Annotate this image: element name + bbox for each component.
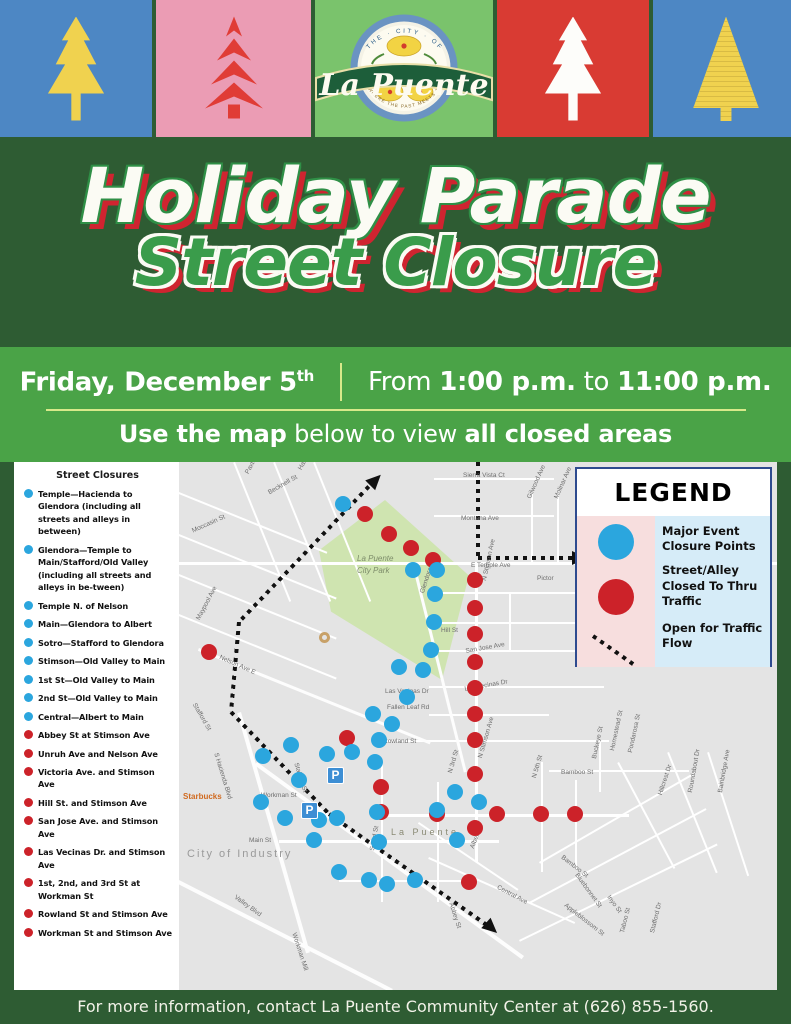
map-red-closure-dot[interactable] [201,644,217,660]
map-red-closure-dot[interactable] [357,506,373,522]
park-label-line2: City Park [357,566,389,575]
legend-label-open-traffic: Open for Traffic Flow [662,621,766,651]
map-blue-closure-dot[interactable] [371,834,387,850]
map-blue-closure-dot[interactable] [426,614,442,630]
closure-item-label: Sotro—Stafford to Glendora [38,637,164,649]
time-end: 11:00 p.m. [617,367,771,397]
road-segment [429,686,604,688]
map-blue-closure-dot[interactable] [391,659,407,675]
map-street-label: Bamboo St [561,769,593,776]
closure-item-label: Rowland St and Stimson Ave [38,908,168,920]
closure-item-label: Temple N. of Nelson [38,600,128,612]
legend-swatch-column [577,516,655,667]
closure-list-item: Glendora—Temple to Main/Stafford/Old Val… [22,544,173,594]
city-seal-logo: THE · CITY · OF WHERE THE PAST MEETS THE… [315,14,493,124]
map-red-closure-dot[interactable] [467,626,483,642]
closure-list-item: 2nd St—Old Valley to Main [22,692,173,704]
red-circle-icon [24,767,33,776]
closure-item-label: Central—Albert to Main [38,711,144,723]
road-segment [429,592,599,594]
closure-list-item: Temple—Hacienda to Glendora (including a… [22,488,173,538]
map-street-label: Moccasin St [191,514,226,535]
footer-contact: For more information, contact La Puente … [0,990,791,1024]
map-street-label: Fallen Leaf Rd [387,704,429,711]
instruction-bold-1: Use the map [119,420,287,448]
map-red-closure-dot[interactable] [489,806,505,822]
map-red-closure-dot[interactable] [467,820,483,836]
svg-text:La Puente: La Puente [318,68,488,103]
blue-circle-icon [24,675,33,684]
map-blue-closure-dot[interactable] [331,864,347,880]
map-street-label: Becknell St [267,474,299,496]
blue-circle-icon [24,489,33,498]
parking-marker-icon[interactable]: P [301,802,318,819]
poi-starbucks: Starbucks [183,792,222,801]
closure-list-item: 1st, 2nd, and 3rd St at Workman St [22,877,173,902]
solid-white-tree-icon [534,17,612,121]
top-banner: THE · CITY · OF WHERE THE PAST MEETS THE… [0,0,791,137]
map-blue-closure-dot[interactable] [306,832,322,848]
event-date: Friday, December 5th [20,367,340,398]
road-segment [539,772,696,864]
red-circle-icon [24,798,33,807]
city-label-city-of-industry: City of Industry [187,848,307,862]
map-street-label: Molinar Ave [553,466,573,500]
roundabout-icon [319,632,330,643]
instruction-mid: below to view [287,420,465,448]
map-red-closure-dot[interactable] [533,806,549,822]
map-blue-closure-dot[interactable] [255,748,271,764]
closure-list-item: Central—Albert to Main [22,711,173,723]
map-street-label: Homestead St [609,710,624,752]
date-bar: Friday, December 5th From 1:00 p.m. to 1… [0,347,791,462]
event-time: From 1:00 p.m. to 11:00 p.m. [342,367,771,397]
map-red-closure-dot[interactable] [461,874,477,890]
map-blue-closure-dot[interactable] [447,784,463,800]
closure-item-label: Stimson—Old Valley to Main [38,655,165,667]
map-street-label: Maypool Ave [195,585,219,621]
closure-list-item: Main—Glendora to Albert [22,618,173,630]
map-blue-closure-dot[interactable] [369,804,385,820]
map-blue-closure-dot[interactable] [423,642,439,658]
road-segment [531,492,533,564]
closure-item-label: Temple—Hacienda to Glendora (including a… [38,488,173,538]
map-blue-closure-dot[interactable] [329,810,345,826]
map-blue-closure-dot[interactable] [367,754,383,770]
map-red-closure-dot[interactable] [567,806,583,822]
map-red-closure-dot[interactable] [467,766,483,782]
map-blue-closure-dot[interactable] [471,794,487,810]
banner-panel-5 [653,0,791,137]
map-street-label: Roundabout Dr [687,749,702,794]
closure-list-item: Unruh Ave and Nelson Ave [22,748,173,760]
road-segment [575,780,577,870]
closure-item-label: 1st St—Old Valley to Main [38,674,155,686]
map-street-label: Montana Ave [461,515,499,522]
map-blue-closure-dot[interactable] [253,794,269,810]
road-segment [509,592,511,652]
closure-item-label: Glendora—Temple to Main/Stafford/Old Val… [38,544,173,594]
road-segment [339,880,469,882]
title-block: Holiday Parade Street Closure [0,137,791,347]
map-street-label: Rowland St [383,738,416,745]
map-red-closure-dot[interactable] [467,654,483,670]
map-street-label: N 3rd St [447,749,460,774]
banner-panel-1 [0,0,152,137]
map-street-label: Pictor [537,575,554,582]
closure-list-item: Hill St. and Stimson Ave [22,797,173,809]
red-circle-icon [24,730,33,739]
map-street-label: Stafford Dr [649,902,663,934]
legend-label-major-event: Major Event Closure Points [662,524,766,554]
map-street-label: Paxton Ave [244,462,266,475]
map-blue-closure-dot[interactable] [407,872,423,888]
legend-blue-circle-icon [598,524,634,560]
map-frame[interactable]: Street Closures Temple—Hacienda to Glend… [14,462,777,990]
date-bar-rule [46,409,746,411]
legend-body: Major Event Closure Points Street/Alley … [577,516,770,667]
map-red-closure-dot[interactable] [467,600,483,616]
road-segment [529,808,707,904]
banner-panel-3: THE · CITY · OF WHERE THE PAST MEETS THE… [315,0,493,137]
chevron-red-tree-icon [195,14,273,123]
closure-item-label: Victoria Ave. and Stimson Ave [38,766,173,791]
map-blue-closure-dot[interactable] [365,706,381,722]
closure-list-item: Sotro—Stafford to Glendora [22,637,173,649]
closure-item-label: Abbey St at Stimson Ave [38,729,150,741]
legend-text-column: Major Event Closure Points Street/Alley … [655,516,770,667]
map-red-closure-dot[interactable] [467,680,483,696]
closure-list-item: Rowland St and Stimson Ave [22,908,173,920]
map-street-label: Hill St [441,627,458,634]
map-blue-closure-dot[interactable] [361,872,377,888]
red-circle-icon [24,928,33,937]
map-blue-closure-dot[interactable] [379,876,395,892]
red-circle-icon [24,878,33,887]
map-street-label: Buckeye St [591,726,605,760]
banner-panel-2 [156,0,311,137]
legend-red-circle-icon [598,579,634,615]
instruction-bold-2: all closed areas [465,420,673,448]
closure-list-item: Workman St and Stimson Ave [22,927,173,939]
road-segment [437,782,439,902]
closure-list-item: Stimson—Old Valley to Main [22,655,173,667]
map-blue-closure-dot[interactable] [449,832,465,848]
closure-item-label: Unruh Ave and Nelson Ave [38,748,158,760]
map-street-label: Bainbridge Ave [717,749,731,793]
red-circle-icon [24,749,33,758]
poster-root: THE · CITY · OF WHERE THE PAST MEETS THE… [0,0,791,1024]
map-canvas[interactable]: La Puente City Park La Puente City of In… [179,462,777,990]
parking-marker-icon[interactable]: P [327,767,344,784]
park-label-line1: La Puente [357,554,393,563]
red-circle-icon [24,847,33,856]
map-blue-closure-dot[interactable] [319,746,335,762]
traffic-flow-dotted-segment [230,711,331,816]
legend-dotted-line-icon [592,634,635,666]
map-red-closure-dot[interactable] [467,572,483,588]
map-blue-closure-dot[interactable] [291,772,307,788]
map-red-closure-dot[interactable] [373,779,389,795]
map-blue-closure-dot[interactable] [277,810,293,826]
closure-list-item: Abbey St at Stimson Ave [22,729,173,741]
street-closures-list: Temple—Hacienda to Glendora (including a… [22,488,173,939]
lined-yellow-tree-icon [687,17,765,121]
map-blue-closure-dot[interactable] [427,586,443,602]
legend-box: LEGEND Major Event Closure Points Street… [575,467,772,667]
map-street-label: Hillcrest Dr [657,764,673,796]
blue-circle-icon [24,656,33,665]
map-street-label: Pondarosa St [627,713,642,753]
time-prefix: From [368,367,439,397]
map-blue-closure-dot[interactable] [429,562,445,578]
legend-title: LEGEND [577,469,770,516]
blue-circle-icon [24,619,33,628]
street-closures-heading: Street Closures [22,470,173,481]
map-blue-closure-dot[interactable] [415,662,431,678]
street-closures-panel: Street Closures Temple—Hacienda to Glend… [14,462,179,990]
road-segment [557,492,559,564]
closure-item-label: 1st, 2nd, and 3rd St at Workman St [38,877,173,902]
map-street-label: Stafford St [191,702,212,732]
blue-circle-icon [24,545,33,554]
closure-list-item: Las Vecinas Dr. and Stimson Ave [22,846,173,871]
traffic-flow-dotted-segment [478,556,579,560]
closure-list-item: Temple N. of Nelson [22,600,173,612]
blue-circle-icon [24,712,33,721]
map-blue-closure-dot[interactable] [335,496,351,512]
closure-item-label: San Jose Ave. and Stimson Ave [38,815,173,840]
closure-list-item: Victoria Ave. and Stimson Ave [22,766,173,791]
red-circle-icon [24,816,33,825]
closure-list-item: San Jose Ave. and Stimson Ave [22,815,173,840]
closure-item-label: Main—Glendora to Albert [38,618,152,630]
solid-yellow-tree-icon [37,17,115,121]
map-blue-closure-dot[interactable] [429,802,445,818]
map-street-label: Main St [249,837,271,844]
closure-item-label: Hill St. and Stimson Ave [38,797,147,809]
red-circle-icon [24,909,33,918]
closure-item-label: 2nd St—Old Valley to Main [38,692,158,704]
closure-list-item: 1st St—Old Valley to Main [22,674,173,686]
map-blue-closure-dot[interactable] [283,737,299,753]
map-red-closure-dot[interactable] [467,732,483,748]
map-street-label: Gilwood Ave [526,464,547,500]
map-street-label: Bluebonnet St [573,872,603,909]
map-street-label: San Jose Ave [465,641,505,655]
map-street-label: Inyo St [605,894,623,914]
map-red-closure-dot[interactable] [403,540,419,556]
map-street-label: Sierra Vista Ct [463,472,505,479]
map-red-closure-dot[interactable] [467,706,483,722]
time-mid: to [576,367,617,397]
closure-item-label: Workman St and Stimson Ave [38,927,172,939]
legend-label-street-alley: Street/Alley Closed To Thru Traffic [662,563,766,609]
blue-circle-icon [24,638,33,647]
map-blue-closure-dot[interactable] [371,732,387,748]
blue-circle-icon [24,693,33,702]
road-segment-valley-blvd [179,880,393,990]
blue-circle-icon [24,601,33,610]
road-segment [707,752,749,876]
map-blue-closure-dot[interactable] [344,744,360,760]
map-blue-closure-dot[interactable] [399,689,415,705]
map-blue-closure-dot[interactable] [384,716,400,732]
date-ordinal-suffix: th [297,367,314,385]
map-red-closure-dot[interactable] [381,526,397,542]
event-date-text: Friday, December 5 [20,367,297,397]
date-row: Friday, December 5th From 1:00 p.m. to 1… [0,347,791,401]
instruction-text: Use the map below to view all closed are… [0,420,791,448]
banner-panel-4 [497,0,649,137]
map-blue-closure-dot[interactable] [405,562,421,578]
time-start: 1:00 p.m. [439,367,575,397]
closure-item-label: Las Vecinas Dr. and Stimson Ave [38,846,173,871]
